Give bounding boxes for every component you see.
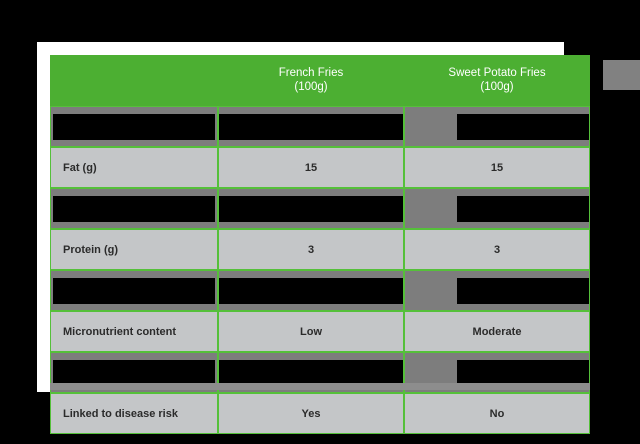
cell-metric: Micronutrient content	[50, 311, 218, 352]
header-cell-metric	[50, 55, 218, 106]
header-row: French Fries (100g) Sweet Potato Fries (…	[50, 55, 590, 106]
table-row	[50, 106, 590, 147]
table-row: Protein (g)33	[50, 229, 590, 270]
header-cell-french-fries: French Fries (100g)	[218, 55, 404, 106]
cell-metric	[50, 270, 218, 311]
cell-sweet-potato-fries	[404, 270, 590, 311]
cell-french-fries: 15	[218, 147, 404, 188]
cell-sweet-potato-fries: No	[404, 393, 590, 434]
redaction-bar	[53, 278, 215, 304]
cell-sweet-potato-fries: Moderate	[404, 311, 590, 352]
cell-french-fries: Yes	[218, 393, 404, 434]
cell-french-fries: Low	[218, 311, 404, 352]
header-cell-sweet-potato-fries: Sweet Potato Fries (100g)	[404, 55, 590, 106]
cell-metric	[50, 188, 218, 229]
cell-french-fries	[218, 188, 404, 229]
header-sub-sweet-potato-fries: (100g)	[408, 80, 586, 94]
table-row: Fat (g)1515	[50, 147, 590, 188]
cell-french-fries: 3	[218, 229, 404, 270]
table-footer-strip	[50, 383, 590, 390]
redaction-bar	[219, 114, 403, 140]
table-row	[50, 270, 590, 311]
cell-french-fries	[218, 106, 404, 147]
redaction-bar	[457, 278, 589, 304]
cell-metric: Fat (g)	[50, 147, 218, 188]
header-label-french-fries: French Fries	[222, 66, 400, 80]
cell-sweet-potato-fries	[404, 188, 590, 229]
cell-french-fries	[218, 270, 404, 311]
right-side-panel	[603, 60, 640, 90]
table-row: Micronutrient contentLowModerate	[50, 311, 590, 352]
cell-sweet-potato-fries	[404, 106, 590, 147]
cell-metric	[50, 106, 218, 147]
header-label-sweet-potato-fries: Sweet Potato Fries	[408, 66, 586, 80]
redaction-bar	[457, 114, 589, 140]
cell-metric: Protein (g)	[50, 229, 218, 270]
table-header: French Fries (100g) Sweet Potato Fries (…	[50, 55, 590, 106]
redaction-bar	[457, 196, 589, 222]
table-row	[50, 188, 590, 229]
cell-sweet-potato-fries: 15	[404, 147, 590, 188]
redaction-bar	[219, 196, 403, 222]
table-row: Linked to disease riskYesNo	[50, 393, 590, 434]
redaction-bar	[53, 196, 215, 222]
header-sub-french-fries: (100g)	[222, 80, 400, 94]
cell-sweet-potato-fries: 3	[404, 229, 590, 270]
redaction-bar	[219, 278, 403, 304]
redaction-bar	[53, 114, 215, 140]
nutrition-comparison-table: French Fries (100g) Sweet Potato Fries (…	[50, 55, 590, 434]
cell-metric: Linked to disease risk	[50, 393, 218, 434]
